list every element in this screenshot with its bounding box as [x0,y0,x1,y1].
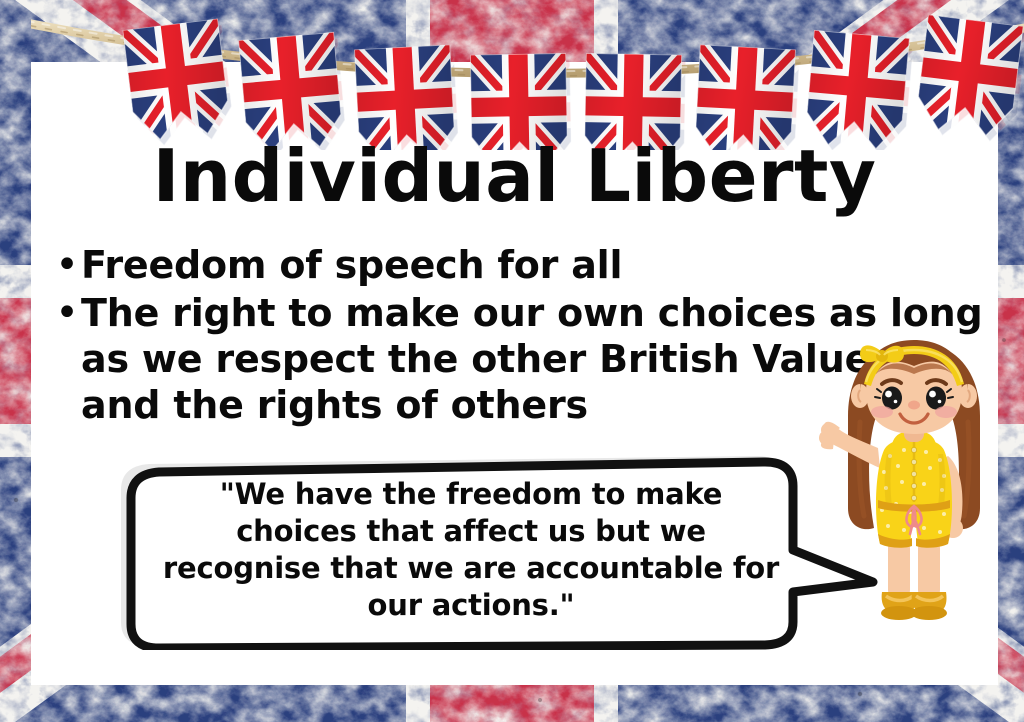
girl-hair-bow [860,345,904,362]
cartoon-girl-illustration [814,330,1014,630]
girl-nose [908,401,920,410]
bullet-dot-icon: • [53,242,81,288]
girl-shoes [881,592,947,620]
girl-svg [814,330,1014,630]
bubble-quote-text: "We have the freedom to make choices tha… [161,476,781,624]
girl-dress [876,432,952,548]
speech-bubble: "We have the freedom to make choices tha… [109,450,879,650]
page-title: Individual Liberty [31,134,998,218]
list-item: • Freedom of speech for all [53,242,983,288]
poster-root: Individual Liberty • Freedom of speech f… [0,0,1024,722]
bullet-text: Freedom of speech for all [81,242,983,288]
bullet-dot-icon: • [53,290,81,336]
